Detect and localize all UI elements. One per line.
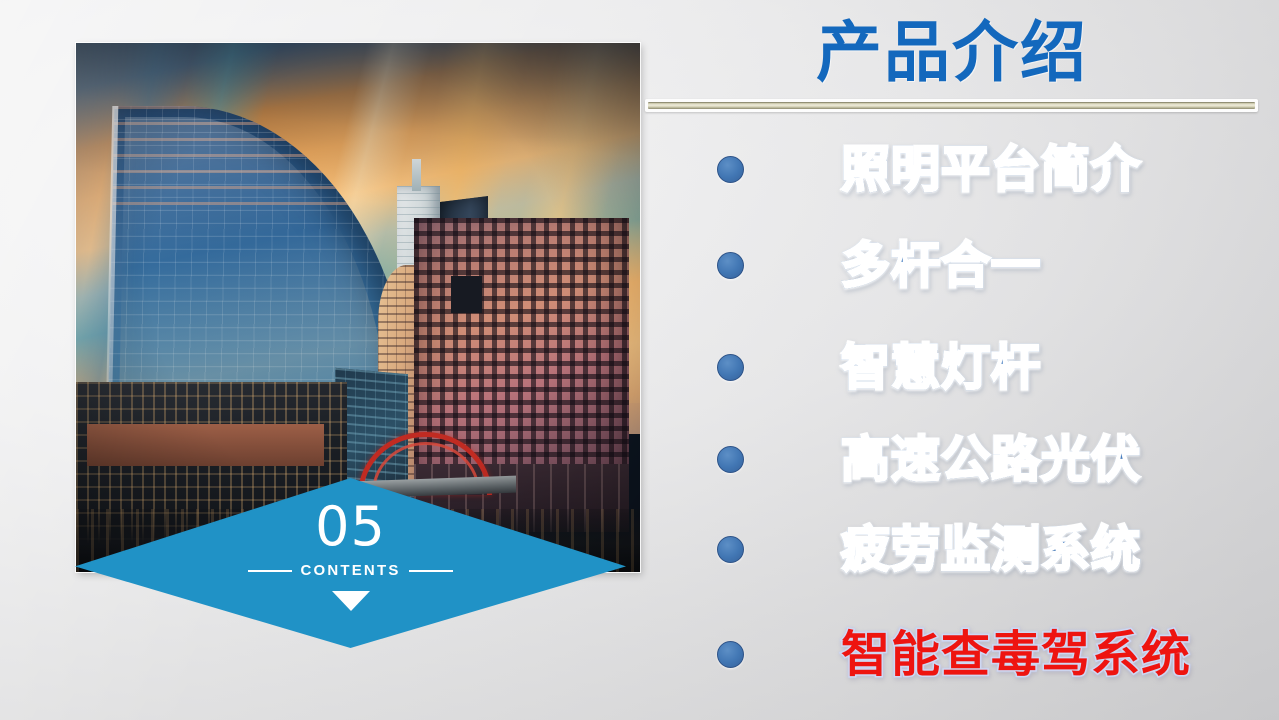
- list-item-label: 智能查毒驾系统: [841, 630, 1191, 679]
- bullet-dot-icon: [717, 354, 744, 381]
- list-item[interactable]: 高速公路光伏: [645, 426, 1265, 492]
- bullet-dot-icon: [717, 536, 744, 563]
- list-item[interactable]: 智能查毒驾系统: [645, 621, 1265, 687]
- list-item-label: 疲劳监测系统: [841, 525, 1141, 574]
- list-item-label: 照明平台简介: [841, 145, 1141, 194]
- bullet-dot-icon: [717, 641, 744, 668]
- bullet-dot-icon: [717, 252, 744, 279]
- list-item-label: 高速公路光伏: [841, 435, 1141, 484]
- bullet-dot-icon: [717, 446, 744, 473]
- list-item-label: 多杆合一: [841, 241, 1041, 290]
- title-divider: [645, 99, 1258, 112]
- bullet-dot-icon: [717, 156, 744, 183]
- list-item[interactable]: 疲劳监测系统: [645, 516, 1265, 582]
- title-divider-inner: [648, 102, 1255, 109]
- page-title: 产品介绍: [645, 4, 1259, 90]
- list-item[interactable]: 照明平台简介: [645, 136, 1265, 202]
- list-item[interactable]: 多杆合一: [645, 232, 1265, 298]
- list-item-label: 智慧灯杆: [841, 343, 1041, 392]
- contents-list: 照明平台简介 多杆合一 智慧灯杆 高速公路光伏 疲劳监测系统 智能查毒驾系统: [645, 128, 1265, 708]
- slide-canvas: 05 CONTENTS 产品介绍 照明平台简介 多杆合一 智慧灯杆 高速公路光伏: [0, 0, 1279, 720]
- list-item[interactable]: 智慧灯杆: [645, 334, 1265, 400]
